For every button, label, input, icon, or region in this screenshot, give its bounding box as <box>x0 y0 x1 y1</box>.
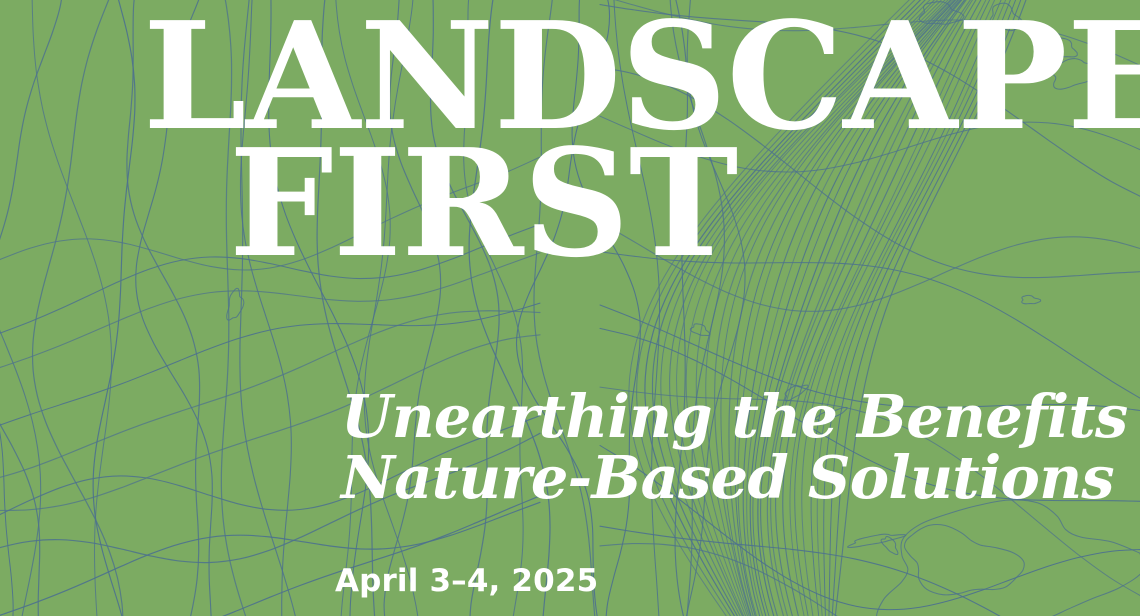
subtitle-line-2: Nature-Based Solutions <box>341 447 1101 510</box>
subtitle-line-1: Unearthing the Benefits of <box>341 386 1101 449</box>
poster-content: LANDSCAPE FIRST Unearthing the Benefits … <box>0 0 1140 616</box>
event-poster: LANDSCAPE FIRST Unearthing the Benefits … <box>0 0 1140 616</box>
page-title-line-2: FIRST <box>229 135 738 271</box>
event-dateline: April 3–4, 2025 <box>335 563 598 599</box>
subtitle-block: Unearthing the Benefits of Nature-Based … <box>341 386 1101 509</box>
